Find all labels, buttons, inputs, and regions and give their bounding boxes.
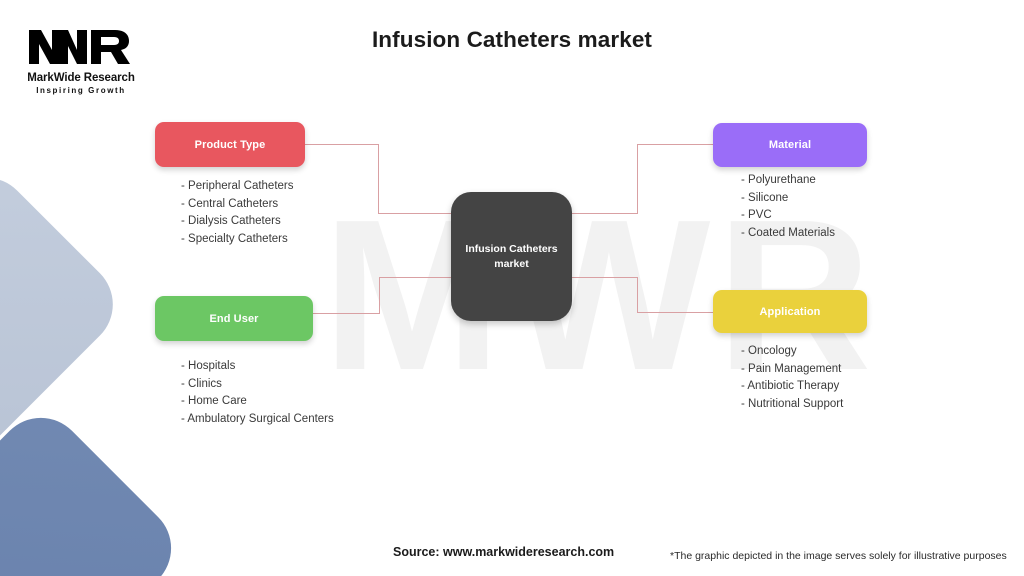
list-item: - Silicone: [741, 190, 835, 208]
connector-end-user-v: [379, 277, 380, 314]
connector-end-user-h1: [313, 313, 380, 314]
infographic-canvas: MWR MarkWide Research Inspiring Growth I…: [0, 0, 1024, 576]
list-item: - Antibiotic Therapy: [741, 378, 843, 396]
item-list-application: - Oncology - Pain Management - Antibioti…: [741, 343, 843, 413]
list-item: - Nutritional Support: [741, 396, 843, 414]
category-label-product-type: Product Type: [195, 139, 266, 151]
list-item: - Polyurethane: [741, 172, 835, 190]
list-item: - Central Catheters: [181, 196, 294, 214]
category-label-end-user: End User: [209, 313, 258, 325]
connector-application-v: [637, 277, 638, 313]
connector-product-type-h1: [305, 144, 379, 145]
category-box-application[interactable]: Application: [713, 290, 867, 333]
item-list-product-type: - Peripheral Catheters - Central Cathete…: [181, 178, 294, 248]
list-item: - Dialysis Catheters: [181, 213, 294, 231]
category-label-application: Application: [760, 306, 821, 318]
center-node-infusion-catheters-market[interactable]: Infusion Catheters market: [451, 192, 572, 321]
list-item: - Pain Management: [741, 361, 843, 379]
connector-application-h2: [637, 312, 715, 313]
list-item: - Ambulatory Surgical Centers: [181, 411, 334, 429]
list-item: - Oncology: [741, 343, 843, 361]
disclaimer-text: *The graphic depicted in the image serve…: [670, 550, 1007, 562]
logo-tagline: Inspiring Growth: [16, 86, 146, 95]
connector-material-h2: [637, 144, 715, 145]
category-box-product-type[interactable]: Product Type: [155, 122, 305, 167]
center-node-label: Infusion Catheters market: [451, 242, 572, 272]
list-item: - Specialty Catheters: [181, 231, 294, 249]
source-text: Source: www.markwideresearch.com: [393, 545, 614, 559]
list-item: - Clinics: [181, 376, 334, 394]
category-box-material[interactable]: Material: [713, 123, 867, 167]
connector-material-v: [637, 144, 638, 214]
list-item: - Coated Materials: [741, 225, 835, 243]
page-title: Infusion Catheters market: [0, 27, 1024, 53]
item-list-end-user: - Hospitals - Clinics - Home Care - Ambu…: [181, 358, 334, 428]
list-item: - PVC: [741, 207, 835, 225]
item-list-material: - Polyurethane - Silicone - PVC - Coated…: [741, 172, 835, 242]
connector-product-type-v: [378, 144, 379, 214]
category-label-material: Material: [769, 139, 811, 151]
decorative-shape-dark: [0, 400, 189, 576]
list-item: - Peripheral Catheters: [181, 178, 294, 196]
logo-company-name: MarkWide Research: [16, 72, 146, 84]
category-box-end-user[interactable]: End User: [155, 296, 313, 341]
list-item: - Hospitals: [181, 358, 334, 376]
list-item: - Home Care: [181, 393, 334, 411]
